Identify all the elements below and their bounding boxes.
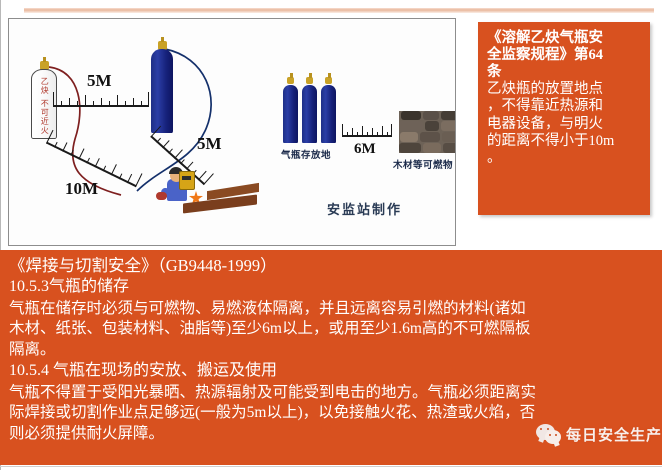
cylinder-valve-icon [287,77,294,84]
dimension-label-5m-right: 5M [197,134,222,154]
oxygen-cylinder [151,41,173,133]
callout-line-7: 的距离不得小于10m [487,133,643,150]
section-1-line-2: 木材、纸张、包装材料、油脂等)至少6m以上，或用至少1.6m高的不可燃隔板 [9,319,653,339]
cylinder-label-bottom: 不可近火 [40,99,48,135]
dimension-label-10m: 10M [65,179,98,199]
cylinder-valve-icon [325,77,332,84]
firewood-stack [399,111,455,153]
section-1-line-1: 气瓶在储存时必须与可燃物、易燃液体隔离，并且远离容易引燃的材料(诸如 [9,299,653,319]
callout-line-5: ，不得靠近热源和 [487,98,643,115]
section-2-line-1: 气瓶不得置于受阳光暴晒、热源辐射及可能受到电击的地方。气瓶必须距离实 [9,383,653,403]
welder-glove [156,192,167,200]
callout-line-8: 。 [487,150,643,167]
section-1-heading: 10.5.3气瓶的储存 [9,277,653,297]
callout-line-2: 全监察规程》第64 [487,47,643,64]
ruler-5m-horizontal [53,91,149,107]
illustration-canvas: 乙炔 不可近火 [9,19,455,245]
regulation-callout: 《溶解乙炔气瓶安 全监察规程》第64 条 乙炔瓶的放置地点 ，不得靠近热源和 电… [478,22,650,215]
storage-cylinder-1 [283,77,298,143]
wechat-icon [536,424,562,445]
cylinder-valve-icon [306,77,313,84]
callout-line-4: 乙炔瓶的放置地点 [487,81,643,98]
combustibles-label: 木材等可燃物 [393,157,453,171]
watermark: 每日安全生产 [536,424,662,445]
callout-line-6: 电器设备，与明火 [487,116,643,133]
section-1-line-3: 隔离。 [9,340,653,360]
callout-line-1: 《溶解乙炔气瓶安 [487,30,643,47]
regulation-title: 《焊接与切割安全》（GB9448-1999） [9,255,653,276]
welder-figure [161,165,271,217]
section-2-line-2: 际焊接或切割作业点足够远(一般为5m以上)，以免接触火花、热渣或火焰，否 [9,403,653,423]
poster-root: 乙炔 不可近火 [0,0,662,470]
welding-mask-icon [179,171,195,190]
callout-line-3: 条 [487,64,643,81]
cylinder-body [283,85,298,143]
section-2-heading: 10.5.4 气瓶在现场的安放、搬运及使用 [9,361,653,381]
cylinder-body [321,85,336,143]
watermark-text: 每日安全生产 [566,424,662,445]
bottom-divider-rule [0,466,662,467]
storage-cylinder-2 [302,77,317,143]
dimension-label-6m: 6M [354,141,376,158]
maker-credit: 安监站制作 [327,199,402,218]
cylinder-body [151,49,173,133]
cylinder-body [302,85,317,143]
cylinder-label-top: 乙炔 [40,77,48,95]
storage-cylinder-3 [321,77,336,143]
ruler-6m [342,123,392,137]
storage-area-label: 气瓶存放地 [281,147,331,161]
illustration-panel: 乙炔 不可近火 [8,18,456,246]
dimension-label-5m-top: 5M [87,71,112,91]
top-divider-rule [24,8,654,13]
